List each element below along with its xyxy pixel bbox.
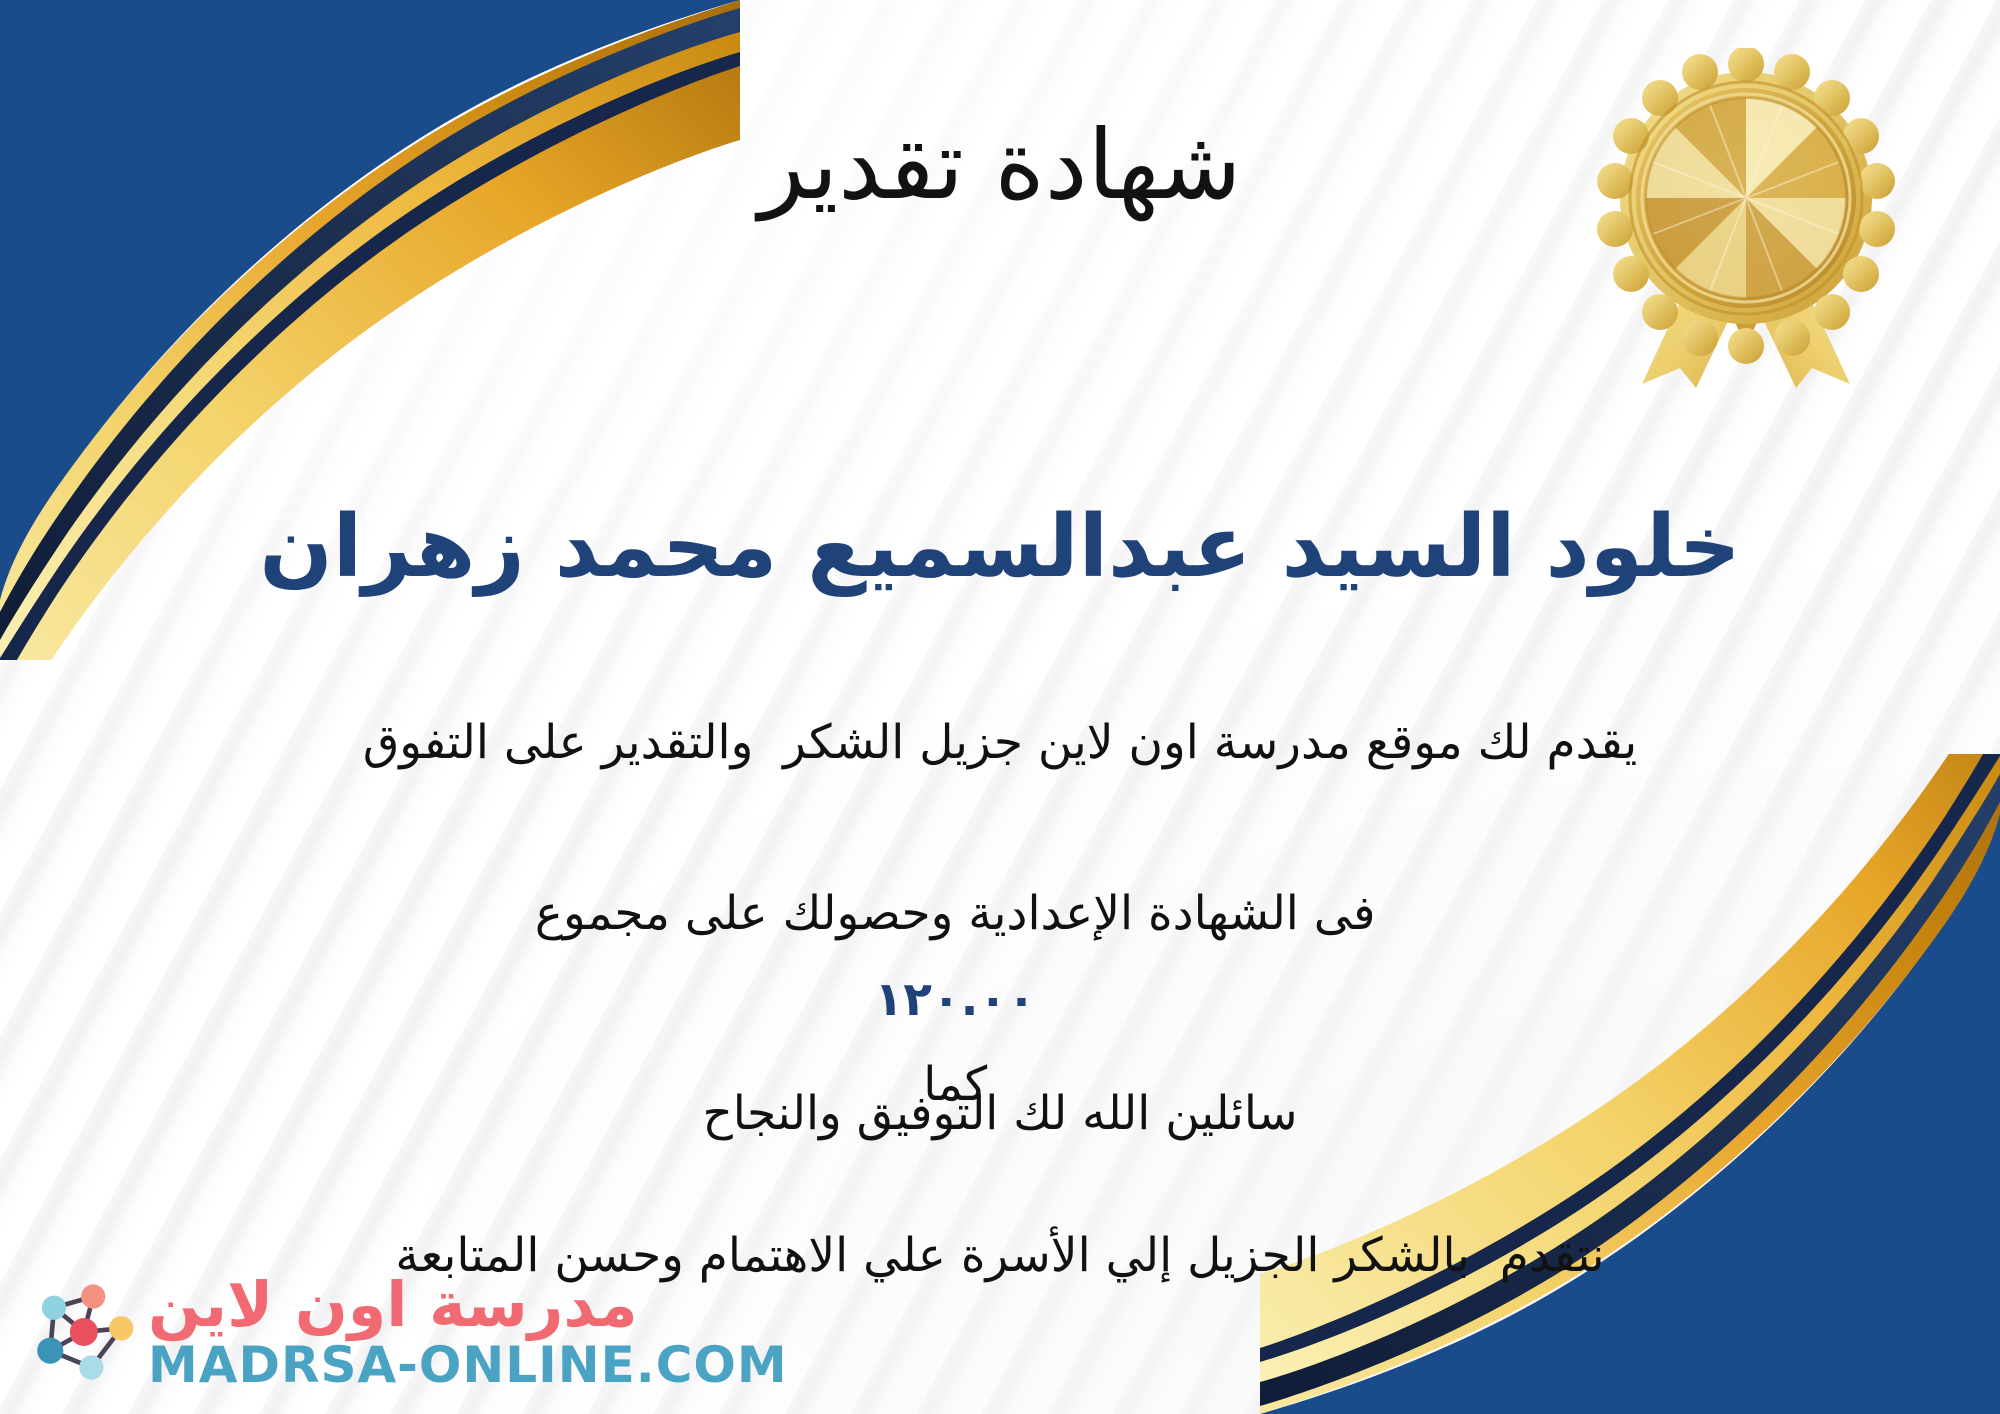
brand-logo-text: مدرسة اون لاين MADRSA-ONLINE.COM <box>148 1274 788 1390</box>
body-line-2: فى الشهادة الإعدادية وحصولك على مجموع ١٢… <box>60 786 1940 1214</box>
closing-line: سائلين الله لك التوفيق والنجاح <box>0 1086 2000 1141</box>
network-nodes-icon <box>26 1276 138 1388</box>
grade-value: ١٢٠.٠٠ <box>857 972 1054 1027</box>
brand-logo[interactable]: مدرسة اون لاين MADRSA-ONLINE.COM <box>26 1274 788 1390</box>
certificate-canvas: شهادة تقدير خلود السيد عبدالسميع محمد زه… <box>0 0 2000 1414</box>
body-line-2-prefix: فى الشهادة الإعدادية وحصولك على مجموع <box>535 886 1376 941</box>
certificate-body: يقدم لك موقع مدرسة اون لاين جزيل الشكر و… <box>60 700 1940 1299</box>
brand-name-arabic: مدرسة اون لاين <box>148 1274 638 1336</box>
certificate-title: شهادة تقدير <box>0 112 2000 220</box>
body-line-1: يقدم لك موقع مدرسة اون لاين جزيل الشكر و… <box>60 700 1940 786</box>
recipient-name: خلود السيد عبدالسميع محمد زهران <box>0 496 2000 599</box>
brand-website: MADRSA-ONLINE.COM <box>148 1340 788 1390</box>
